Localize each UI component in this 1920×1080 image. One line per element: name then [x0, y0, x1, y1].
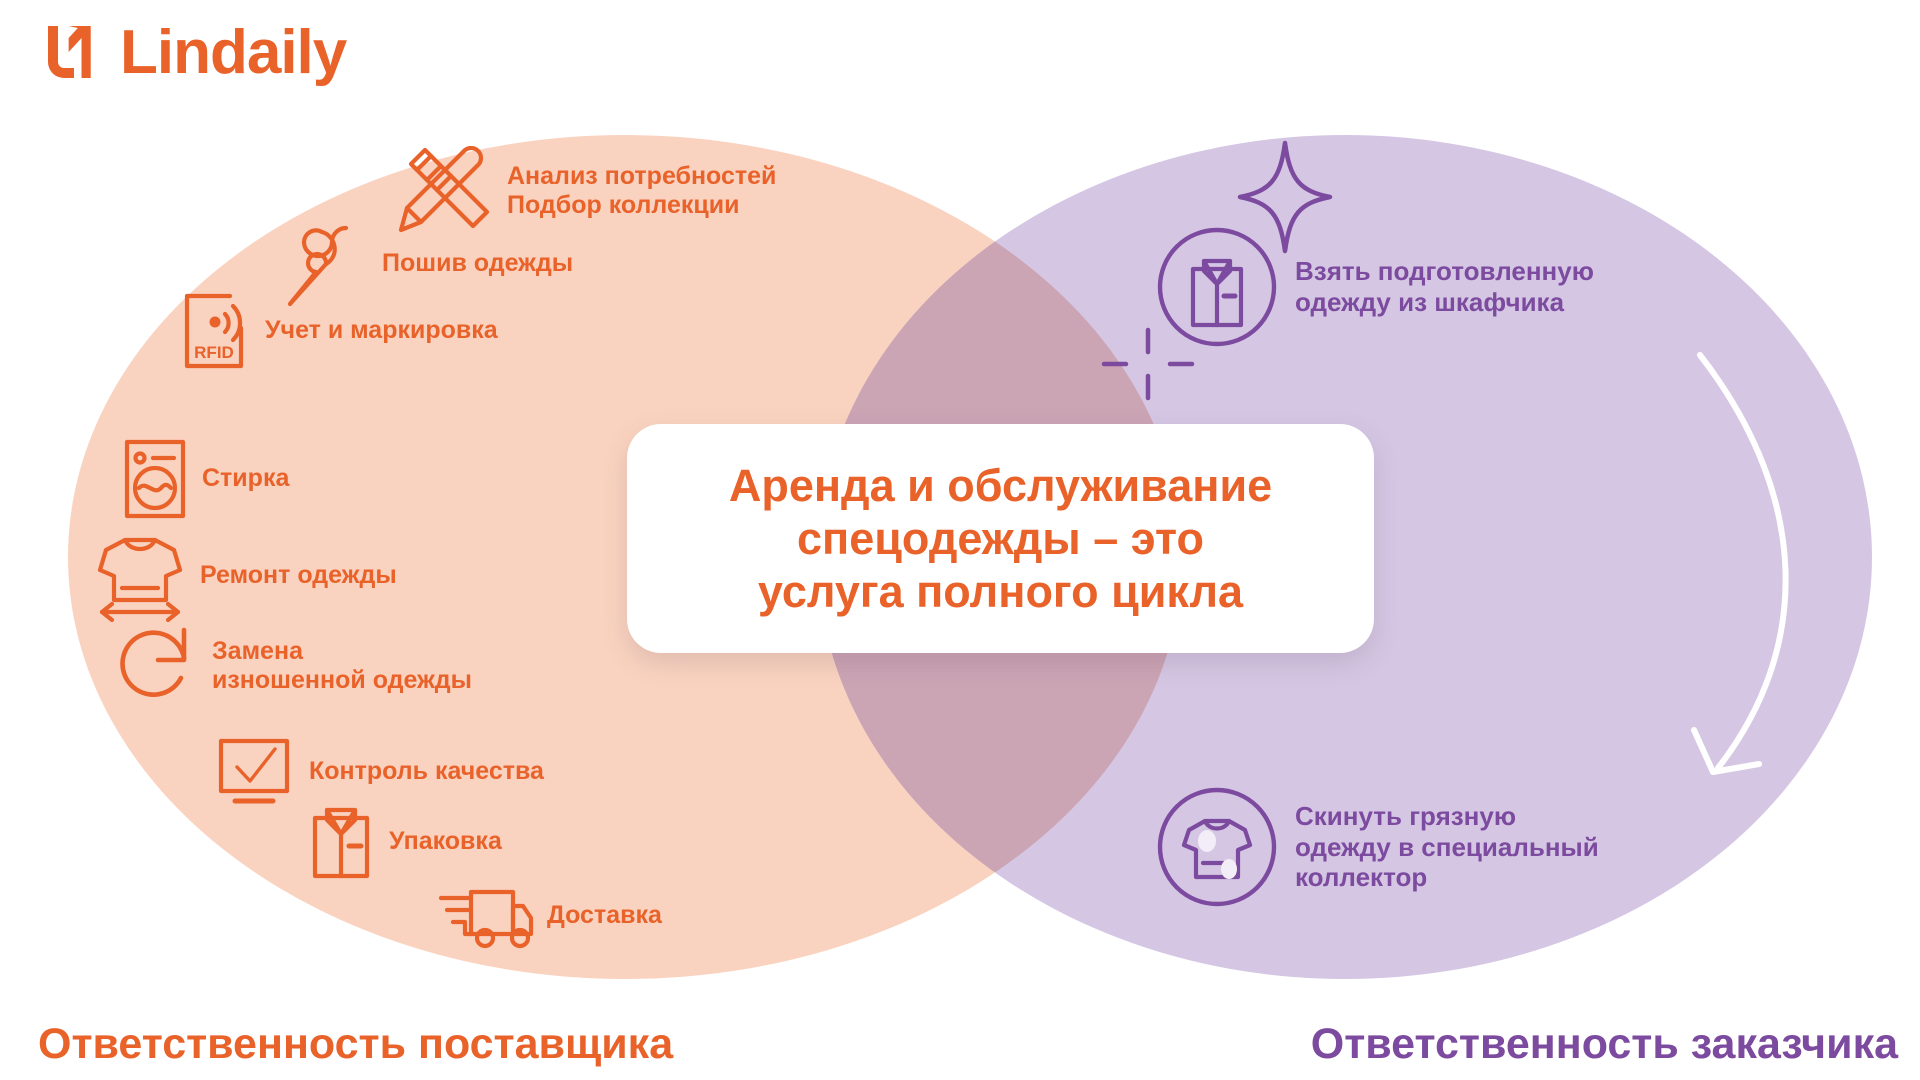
- folded-shirt-icon: [305, 800, 377, 884]
- delivery-truck-icon: [435, 880, 535, 952]
- list-item-label: Взять подготовленную одежду из шкафчика: [1295, 256, 1594, 317]
- rfid-tag-icon: RFID: [175, 288, 253, 374]
- list-item-label: Упаковка: [389, 827, 502, 857]
- list-item[interactable]: Стирка: [120, 436, 289, 522]
- brand-name: Lindaily: [120, 22, 346, 84]
- list-item-label: Скинуть грязную одежду в специальный кол…: [1295, 801, 1599, 893]
- tshirt-measure-icon: [92, 530, 188, 622]
- list-item[interactable]: Контроль качества: [213, 735, 544, 809]
- dirty-shirt-circle-icon: [1155, 785, 1279, 909]
- list-item[interactable]: Ремонт одежды: [92, 530, 397, 622]
- list-item[interactable]: Замена изношенной одежды: [118, 622, 472, 710]
- supplier-caption: Ответственность поставщика: [38, 1023, 673, 1066]
- center-message-card: Аренда и обслуживание спецодежды – это у…: [627, 424, 1374, 653]
- list-item[interactable]: Упаковка: [305, 800, 502, 884]
- list-item-label: Анализ потребностей Подбор коллекции: [507, 162, 776, 221]
- list-item-label: Доставка: [547, 901, 662, 931]
- infographic-canvas: Lindaily Анализ потребностей Подбор колл…: [0, 0, 1920, 1080]
- list-item[interactable]: RFID Учет и маркировка: [175, 288, 498, 374]
- washing-machine-icon: [120, 436, 190, 522]
- refresh-arrow-icon: [118, 622, 200, 710]
- list-item-label: Пошив одежды: [382, 249, 573, 279]
- list-item-label: Стирка: [202, 464, 289, 494]
- list-item-label: Учет и маркировка: [265, 316, 498, 346]
- clean-shirt-circle-icon: [1155, 225, 1279, 349]
- list-item-label: Ремонт одежды: [200, 561, 397, 591]
- lindaily-mark-icon: [40, 20, 106, 86]
- list-item[interactable]: Доставка: [435, 880, 662, 952]
- svg-text:RFID: RFID: [194, 343, 234, 362]
- list-item[interactable]: Взять подготовленную одежду из шкафчика: [1155, 225, 1594, 349]
- list-item[interactable]: Скинуть грязную одежду в специальный кол…: [1155, 785, 1599, 909]
- brand-logo[interactable]: Lindaily: [40, 20, 346, 86]
- list-item-label: Замена изношенной одежды: [212, 637, 472, 696]
- customer-caption: Ответственность заказчика: [1311, 1023, 1898, 1066]
- center-message-text: Аренда и обслуживание спецодежды – это у…: [729, 459, 1272, 618]
- list-item-label: Контроль качества: [309, 757, 544, 787]
- checked-screen-icon: [213, 735, 297, 809]
